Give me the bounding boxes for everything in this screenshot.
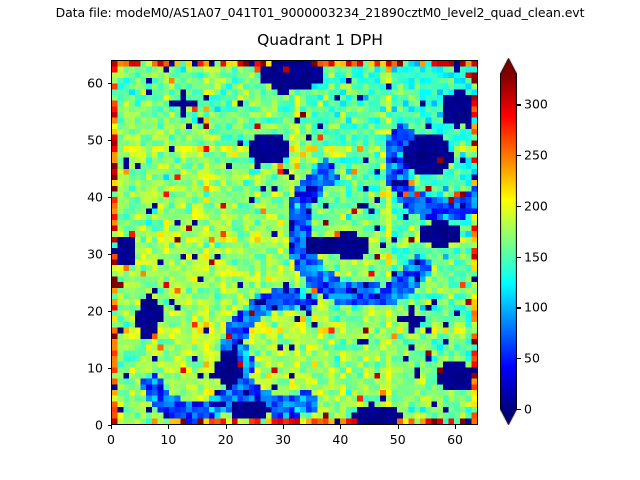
colorbar-tick-mark bbox=[517, 358, 521, 359]
colorbar-gradient bbox=[500, 58, 517, 425]
colorbar-tick-mark bbox=[517, 104, 521, 105]
y-tick-mark bbox=[108, 311, 112, 312]
colorbar-tick-mark bbox=[517, 155, 521, 156]
x-tick-label: 0 bbox=[107, 432, 115, 447]
y-tick-label: 30 bbox=[69, 246, 103, 261]
x-tick-mark bbox=[226, 425, 227, 429]
y-tick-label: 0 bbox=[69, 418, 103, 433]
y-tick-mark bbox=[108, 140, 112, 141]
y-tick-label: 10 bbox=[69, 360, 103, 375]
x-tick-label: 30 bbox=[275, 432, 291, 447]
x-tick-label: 10 bbox=[160, 432, 176, 447]
colorbar[interactable] bbox=[500, 58, 517, 425]
x-tick-label: 60 bbox=[447, 432, 463, 447]
matplotlib-figure: Data file: modeM0/AS1A07_041T01_90000032… bbox=[0, 0, 640, 480]
colorbar-tick-label: 50 bbox=[524, 351, 540, 366]
x-tick-label: 20 bbox=[218, 432, 234, 447]
y-tick-label: 50 bbox=[69, 132, 103, 147]
colorbar-tick-mark bbox=[517, 307, 521, 308]
x-tick-label: 40 bbox=[332, 432, 348, 447]
colorbar-tick-mark bbox=[517, 206, 521, 207]
y-tick-label: 60 bbox=[69, 75, 103, 90]
plot-title: Quadrant 1 DPH bbox=[0, 31, 640, 49]
colorbar-tick-label: 250 bbox=[524, 148, 548, 163]
colorbar-tick-mark bbox=[517, 409, 521, 410]
colorbar-tick-mark bbox=[517, 257, 521, 258]
y-tick-mark bbox=[108, 197, 112, 198]
data-file-suptitle: Data file: modeM0/AS1A07_041T01_90000032… bbox=[0, 5, 640, 20]
x-tick-mark bbox=[111, 425, 112, 429]
x-tick-mark bbox=[168, 425, 169, 429]
y-tick-label: 40 bbox=[69, 189, 103, 204]
y-tick-mark bbox=[108, 83, 112, 84]
y-tick-label: 20 bbox=[69, 303, 103, 318]
y-tick-mark bbox=[108, 368, 112, 369]
colorbar-tick-label: 150 bbox=[524, 249, 548, 264]
colorbar-tick-label: 300 bbox=[524, 97, 548, 112]
x-tick-mark bbox=[455, 425, 456, 429]
dph-heatmap-image bbox=[112, 61, 477, 424]
x-tick-mark bbox=[340, 425, 341, 429]
dph-heatmap-axes[interactable] bbox=[111, 60, 478, 425]
colorbar-tick-label: 200 bbox=[524, 198, 548, 213]
x-tick-label: 50 bbox=[390, 432, 406, 447]
colorbar-tick-label: 100 bbox=[524, 300, 548, 315]
x-tick-mark bbox=[283, 425, 284, 429]
colorbar-tick-label: 0 bbox=[524, 402, 532, 417]
x-tick-mark bbox=[398, 425, 399, 429]
y-tick-mark bbox=[108, 254, 112, 255]
